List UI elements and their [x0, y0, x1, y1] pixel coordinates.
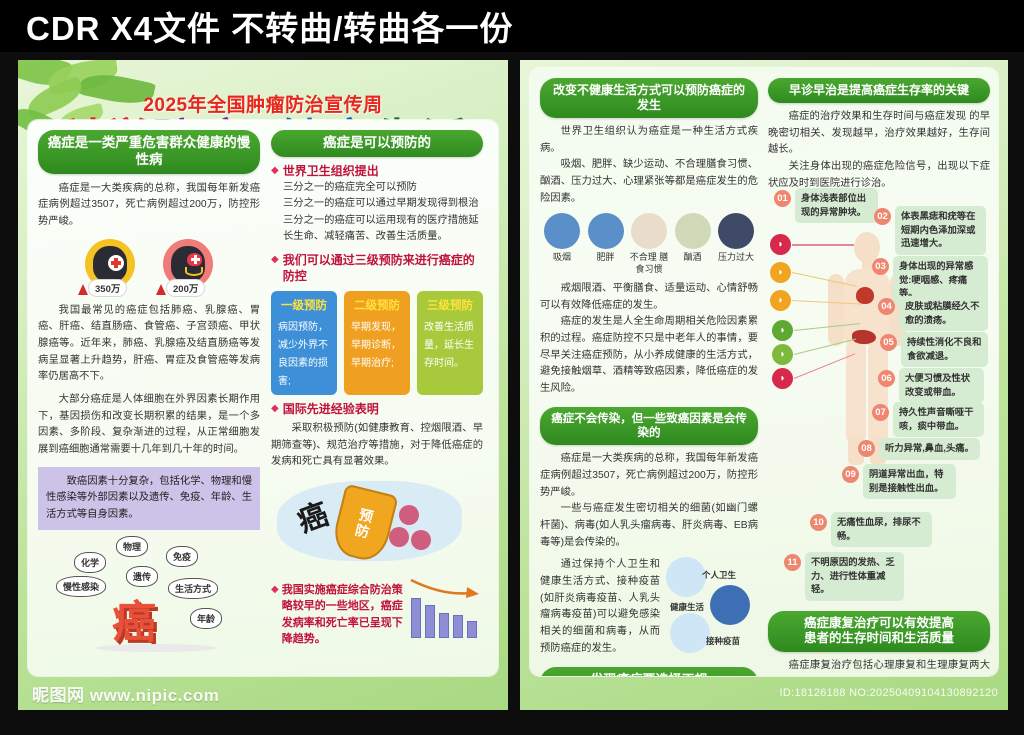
- bubble-chemistry: 化学: [74, 552, 106, 573]
- who-line-1: 三分之一的癌症完全可以预防: [283, 180, 483, 196]
- lifestyle-icon-row: 吸烟 肥胖 不合理 膳食习惯 酗酒: [542, 213, 756, 275]
- signal-number: 06: [878, 370, 895, 387]
- lifestyle-p1: 世界卫生组织认为癌症是一种生活方式疾病。: [540, 124, 758, 157]
- level-2-box: 二级预防 早期发现，早期诊断，早期治疗;: [344, 291, 410, 395]
- contagion-p3: 通过保持个人卫生和健康生活方式、接种疫苗(如肝炎病毒疫苗、人乳头瘤病毒疫苗)可以…: [540, 557, 660, 657]
- lifestyle-icon-label: 酗酒: [673, 252, 713, 263]
- who-line-2: 三分之一的癌症可以通过早期发现得到根治: [283, 196, 483, 212]
- alcohol-icon: [675, 213, 711, 249]
- left-poster-footer: 昵图网 www.nipic.com: [18, 676, 508, 710]
- section-header-early-diagnosis: 早诊早治是提高癌症生存率的关键: [768, 78, 990, 103]
- signal-number: 05: [880, 334, 897, 351]
- diamond-bullet-icon: ◆: [271, 252, 279, 267]
- up-arrow-icon: [156, 284, 166, 295]
- contagion-p1: 癌症是一大类疾病的总称，我国每年新发癌症病例超过3507，死亡病例超过200万，…: [540, 451, 758, 501]
- lifestyle-icon-cell: 吸烟: [542, 213, 582, 275]
- signal-number: 08: [858, 440, 875, 457]
- lifestyle-p4: 癌症的发生是人全生命周期相关危险因素累积的过程。癌症防控不只是中老年人的事情，要…: [540, 314, 758, 397]
- signal-text: 听力异常,鼻血,头痛。: [879, 438, 980, 459]
- hygiene-label-3: 接种疫苗: [706, 635, 740, 647]
- signal-item-09: 09 阴道异常出血，特别是接触性出血。: [842, 464, 956, 499]
- shield-label: 预防: [350, 506, 377, 542]
- right-column: 癌症是可以预防的 ◆ 世界卫生组织提出 三分之一的癌症完全可以预防 三分之一的癌…: [271, 130, 483, 648]
- level-2-title: 二级预防: [351, 297, 403, 313]
- window-title-bar: CDR X4文件 不转曲/转曲各一份: [0, 0, 1024, 52]
- stomach-organ-icon: ◗: [770, 290, 791, 311]
- bubble-lifestyle: 生活方式: [168, 578, 218, 599]
- stress-icon: [718, 213, 754, 249]
- signal-number: 10: [810, 514, 827, 531]
- trend-block: ◆ 我国实施癌症综合防治策略较早的一些地区，癌症发病率和死亡率已呈现下降趋势。: [271, 582, 483, 648]
- lifestyle-icon-cell: 压力过大: [716, 213, 756, 275]
- chart-bar: [425, 605, 435, 638]
- chart-bar: [467, 621, 477, 638]
- bullet-three-levels: ◆ 我们可以通过三级预防来进行癌症的防控: [271, 252, 483, 286]
- sleep-icon: [710, 585, 750, 625]
- page-title: CDR X4文件 不转曲/转曲各一份: [26, 2, 513, 50]
- diamond-bullet-icon: ◆: [271, 582, 279, 648]
- decline-bar-chart: [409, 582, 483, 638]
- who-line-3: 三分之一的癌症可以运用现有的医疗措施延: [283, 213, 483, 229]
- chronic-p3: 大部分癌症是人体细胞在外界因素长期作用下，基因损伤和改变长期积累的结果，是一个多…: [38, 392, 260, 459]
- cancer-character-art: 癌: [112, 586, 156, 650]
- right-poster: 改变不健康生活方式可以预防癌症的发生 世界卫生组织认为癌症是一种生活方式疾病。 …: [520, 60, 1008, 710]
- art-shadow: [96, 644, 216, 652]
- signal-number: 02: [874, 208, 891, 225]
- signal-number: 01: [774, 190, 791, 207]
- mouth-organ-icon: ◗: [770, 234, 791, 255]
- lifestyle-icon-label: 肥胖: [586, 252, 626, 263]
- signal-number: 04: [878, 298, 895, 315]
- early-p1: 癌症的治疗效果和生存时间与癌症发现 的早晚密切相关、发现越早，治疗效果越好，生存…: [768, 109, 990, 159]
- chronic-p1: 癌症是一大类疾病的总称，我国每年新发癌症病例超过3507，死亡病例超过200万，…: [38, 181, 260, 231]
- smoking-icon: [544, 213, 580, 249]
- lifestyle-icon-cell: 酗酒: [673, 213, 713, 275]
- signal-item-04: 04 皮肤或粘膜经久不愈的溃疡。: [878, 296, 988, 331]
- bullet-three-levels-title: 我们可以通过三级预防来进行癌症的防控: [283, 252, 483, 286]
- lifestyle-icon-label: 不合理 膳食习惯: [629, 252, 669, 275]
- left-poster: 2025年全国肿瘤防治宣传周 科学防癌 健康生活 肿瘤防治 科普先行 定期体检 …: [18, 60, 508, 710]
- poster-page: CDR X4文件 不转曲/转曲各一份 2025年全国肿瘤防治宣传周 科学防癌 健…: [0, 0, 1024, 735]
- bubble-chronic-infection: 慢性感染: [56, 576, 106, 597]
- lifestyle-p3: 戒烟限酒、平衡膳食、适量运动、心情舒畅可以有效降低癌症的发生。: [540, 281, 758, 314]
- poster-id-text: ID:18126188 NO:20250409104130892120: [780, 687, 998, 699]
- right-poster-body: 改变不健康生活方式可以预防癌症的发生 世界卫生组织认为癌症是一种生活方式疾病。 …: [530, 68, 998, 676]
- signal-text: 阴道异常出血，特别是接触性出血。: [863, 464, 956, 499]
- contagion-p2: 一些与癌症发生密切相关的细菌(如幽门螺杆菌)、病毒(如人乳头瘤病毒、肝炎病毒、E…: [540, 501, 758, 551]
- uterus-organ-icon: ◗: [772, 368, 793, 389]
- signal-text: 无痛性血尿，排尿不畅。: [831, 512, 932, 547]
- level-1-box: 一级预防 病因预防，减少外界不良因素的损害;: [271, 291, 337, 395]
- hygiene-label-2: 健康生活: [670, 601, 704, 613]
- hygiene-icon-group: 个人卫生 健康生活 接种疫苗: [666, 557, 758, 653]
- level-3-desc: 改善生活质量，延长生存时间。: [424, 322, 474, 369]
- section-header-contagion: 癌症不会传染，但一些致癌因素是会传染的: [540, 407, 758, 446]
- lifestyle-p2: 吸烟、肥胖、缺少运动、不合理膳食习惯、酗酒、压力过大、心理紧张等都是癌症发生的危…: [540, 157, 758, 207]
- signal-number: 03: [872, 258, 889, 275]
- signal-text: 身体浅表部位出现的异常肿块。: [795, 188, 878, 223]
- left-column: 癌症是一类严重危害群众健康的慢性病 癌症是一大类疾病的总称，我国每年新发癌症病例…: [38, 130, 260, 654]
- signal-number: 09: [842, 466, 859, 483]
- stat-figure-new-cases: 350万: [82, 239, 138, 295]
- lifestyle-icon-cell: 不合理 膳食习惯: [629, 213, 669, 275]
- hygiene-block: 通过保持个人卫生和健康生活方式、接种疫苗(如肝炎病毒疫苗、人乳头瘤病毒疫苗)可以…: [540, 557, 758, 657]
- chart-bar: [411, 598, 421, 638]
- lifestyle-icon-cell: 肥胖: [586, 213, 626, 275]
- level-3-box: 三级预防 改善生活质量，延长生存时间。: [417, 291, 483, 395]
- signal-text: 持续性消化不良和食欲减退。: [901, 332, 988, 367]
- section-header-rehab: 癌症康复治疗可以有效提高 患者的生存时间和生活质量: [768, 611, 990, 652]
- chart-bar: [453, 615, 463, 638]
- obesity-icon: [588, 213, 624, 249]
- prevention-shield-illustration: 癌 预防: [271, 475, 483, 580]
- trend-text: 我国实施癌症综合防治策略较早的一些地区，癌症发病率和死亡率已呈现下降趋势。: [282, 582, 403, 648]
- hygiene-label-1: 个人卫生: [702, 569, 736, 581]
- bubble-physics: 物理: [116, 536, 148, 557]
- rehab-p1: 癌症康复治疗包括心理康复和生理康复两大部分，是临床治疗必要的延续和完善。: [768, 658, 990, 676]
- right-poster-footer: ID:18126188 NO:20250409104130892120: [520, 676, 1008, 710]
- section-header-treatment: 发现癌症要选择正规 医院接受规范化治疗: [540, 667, 758, 676]
- lifestyle-icon-label: 吸烟: [542, 252, 582, 263]
- handwash-icon: [666, 557, 706, 597]
- signal-item-08: 08 听力异常,鼻血,头痛。: [858, 438, 984, 459]
- statistics-figures: 350万 200万: [38, 239, 260, 295]
- signal-number: 07: [872, 404, 889, 421]
- chronic-p2: 我国最常见的癌症包括肺癌、乳腺癌、胃癌、肝癌、结直肠癌、食管癌、子宫颈癌、甲状腺…: [38, 303, 260, 386]
- section-header-chronic-disease: 癌症是一类严重危害群众健康的慢性病: [38, 130, 260, 174]
- signal-item-06: 06 大便习惯及性状改变或带血。: [878, 368, 984, 403]
- rp-right-column: 早诊早治是提高癌症生存率的关键 癌症的治疗效果和生存时间与癌症发现 的早晚密切相…: [768, 78, 990, 676]
- lifestyle-icon-label: 压力过大: [716, 252, 756, 263]
- bubble-immunity: 免疫: [166, 546, 198, 567]
- international-para: 采取积极预防(如健康教育、控烟限酒、早期筛查等)、规范治疗等措施，对于降低癌症的…: [271, 421, 483, 471]
- cell-icon: [389, 527, 409, 547]
- stat-figure-deaths: 200万: [160, 239, 216, 295]
- diet-icon: [631, 213, 667, 249]
- level-1-title: 一级预防: [278, 297, 330, 313]
- campaign-subtitle: 2025年全国肿瘤防治宣传周: [18, 90, 508, 117]
- who-lines: 三分之一的癌症完全可以预防 三分之一的癌症可以通过早期发现得到根治 三分之一的癌…: [283, 180, 483, 246]
- risk-factor-highlight: 致癌因素十分复杂，包括化学、物理和慢性感染等外部因素以及遗传、免疫、年龄、生活方…: [38, 467, 260, 530]
- signal-item-10: 10 无痛性血尿，排尿不畅。: [810, 512, 932, 547]
- bullet-who: ◆ 世界卫生组织提出: [271, 163, 483, 180]
- diamond-bullet-icon: ◆: [271, 163, 279, 178]
- stat-value-new-cases: 350万: [88, 279, 127, 297]
- intestine-organ-icon: ◗: [772, 320, 793, 341]
- risk-factor-illustration: 化学 物理 遗传 免疫 慢性感染 生活方式 年龄 癌: [38, 534, 260, 654]
- signal-text: 持久性声音嘶哑干咳，痰中带血。: [893, 402, 984, 437]
- decline-arrow-icon: [409, 576, 483, 600]
- liver-organ: [852, 330, 876, 344]
- who-line-4: 长生命、减轻痛苦、改善生活质量。: [283, 229, 483, 245]
- lung-organ-icon: ◗: [770, 262, 791, 283]
- signal-text: 大便习惯及性状改变或带血。: [899, 368, 984, 403]
- up-arrow-icon: [78, 284, 88, 295]
- level-1-desc: 病因预防，减少外界不良因素的损害;: [278, 322, 328, 387]
- prevention-levels: 一级预防 病因预防，减少外界不良因素的损害; 二级预防 早期发现，早期诊断，早期…: [271, 291, 483, 395]
- bullet-who-title: 世界卫生组织提出: [283, 163, 379, 180]
- watermark-text: 昵图网 www.nipic.com: [32, 681, 219, 706]
- section-header-preventable: 癌症是可以预防的: [271, 130, 483, 157]
- signal-text: 皮肤或粘膜经久不愈的溃疡。: [899, 296, 988, 331]
- colon-organ-icon: ◗: [772, 344, 793, 365]
- signal-item-11: 11 不明原因的发热、乏力、进行性体重减轻。: [784, 552, 904, 600]
- signal-item-05: 05 持续性消化不良和食欲减退。: [880, 332, 988, 367]
- section-header-lifestyle: 改变不健康生活方式可以预防癌症的发生: [540, 78, 758, 118]
- stat-value-deaths: 200万: [166, 279, 205, 297]
- bubble-heredity: 遗传: [126, 566, 158, 587]
- body-signals-diagram: ◗ ◗ ◗ ◗ ◗ ◗ 01 身体浅表部位出现的异常肿块。: [768, 192, 990, 512]
- diamond-bullet-icon: ◆: [271, 401, 279, 416]
- cell-icon: [399, 505, 419, 525]
- lead-line: [792, 244, 854, 245]
- early-p2: 关注身体出现的癌症危险信号，出现以下症状应及时到医院进行诊治。: [768, 159, 990, 192]
- signal-item-01: 01 身体浅表部位出现的异常肿块。: [774, 188, 878, 223]
- bubble-age: 年龄: [190, 608, 222, 629]
- cell-icon: [411, 530, 431, 550]
- signal-text: 体表黑痣和疣等在短期内色泽加深或迅速增大。: [895, 206, 986, 254]
- signal-text: 不明原因的发热、乏力、进行性体重减轻。: [805, 552, 904, 600]
- signal-number: 11: [784, 554, 801, 571]
- left-poster-body: 癌症是一类严重危害群众健康的慢性病 癌症是一大类疾病的总称，我国每年新发癌症病例…: [28, 120, 498, 676]
- rp-left-column: 改变不健康生活方式可以预防癌症的发生 世界卫生组织认为癌症是一种生活方式疾病。 …: [540, 78, 758, 676]
- signal-item-07: 07 持久性声音嘶哑干咳，痰中带血。: [872, 402, 984, 437]
- chart-bar: [439, 613, 449, 638]
- level-2-desc: 早期发现，早期诊断，早期治疗;: [351, 322, 401, 369]
- level-3-title: 三级预防: [424, 297, 476, 313]
- signal-item-02: 02 体表黑痣和疣等在短期内色泽加深或迅速增大。: [874, 206, 986, 254]
- vaccine-icon: [670, 613, 710, 653]
- bullet-international: ◆ 国际先进经验表明: [271, 401, 483, 418]
- bullet-international-title: 国际先进经验表明: [283, 401, 379, 418]
